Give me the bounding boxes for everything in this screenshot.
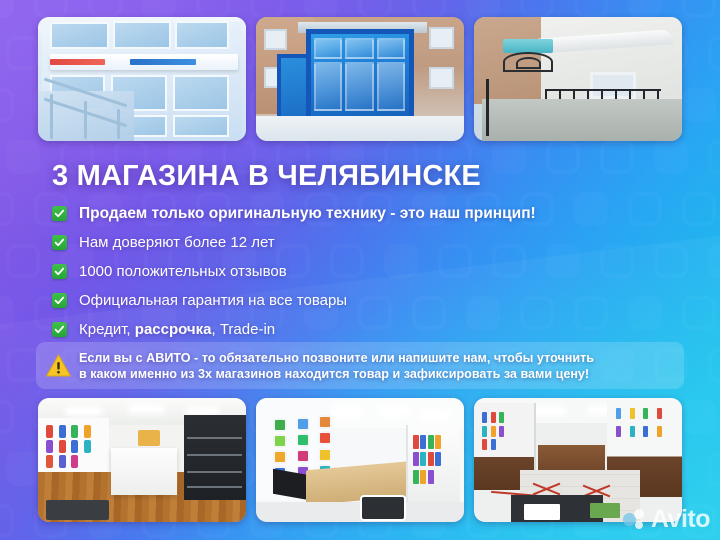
feature-item-label: Кредит, рассрочка, Trade-in <box>79 321 275 338</box>
feature-item-label: Продаем только оригинальную технику - эт… <box>79 205 536 223</box>
green-check-icon <box>52 235 67 250</box>
photo-shop-interior-wood-cases[interactable] <box>474 398 682 522</box>
green-check-icon <box>52 264 67 279</box>
avito-wordmark: Avito <box>651 505 710 534</box>
warning-line-1: Если вы с АВИТО - то обязательно позвони… <box>79 350 594 366</box>
feature-item-label: Официальная гарантия на все товары <box>79 292 347 309</box>
warning-line-2: в каком именно из 3х магазинов находится… <box>79 366 594 382</box>
avito-logo-icon <box>623 509 649 531</box>
feature-list: Продаем только оригинальную технику - эт… <box>52 199 536 344</box>
green-check-icon <box>52 322 67 337</box>
photo-storefront-blue-glass-entrance[interactable] <box>256 17 464 141</box>
photo-storefront-white-blue-glass[interactable] <box>38 17 246 141</box>
warning-triangle-icon <box>45 352 72 379</box>
warning-text: Если вы с АВИТО - то обязательно позвони… <box>79 350 594 382</box>
photo-row-bottom <box>0 398 720 522</box>
photo-shop-interior-white-counter[interactable] <box>38 398 246 522</box>
shop-sign <box>503 39 553 53</box>
avito-warning-banner: Если вы с АВИТО - то обязательно позвони… <box>36 342 684 389</box>
feature-item: Нам доверяют более 12 лет <box>52 228 536 257</box>
photo-shop-interior-apple-style[interactable] <box>256 398 464 522</box>
feature-item-label: 1000 положительных отзывов <box>79 263 287 280</box>
green-check-icon <box>52 206 67 221</box>
sign-text-blue <box>130 59 197 65</box>
feature-item-label: Нам доверяют более 12 лет <box>79 234 275 251</box>
feature-item: Продаем только оригинальную технику - эт… <box>52 199 536 228</box>
page-title: 3 МАГАЗИНА В ЧЕЛЯБИНСКЕ <box>52 160 481 193</box>
sign-text-red <box>50 59 104 65</box>
feature-item: Кредит, рассрочка, Trade-in <box>52 315 536 344</box>
feature-item: 1000 положительных отзывов <box>52 257 536 286</box>
avito-watermark: Avito <box>623 505 710 534</box>
photo-storefront-porch-awning[interactable] <box>474 17 682 141</box>
green-check-icon <box>52 293 67 308</box>
feature-item: Официальная гарантия на все товары <box>52 286 536 315</box>
photo-row-top <box>0 17 720 141</box>
